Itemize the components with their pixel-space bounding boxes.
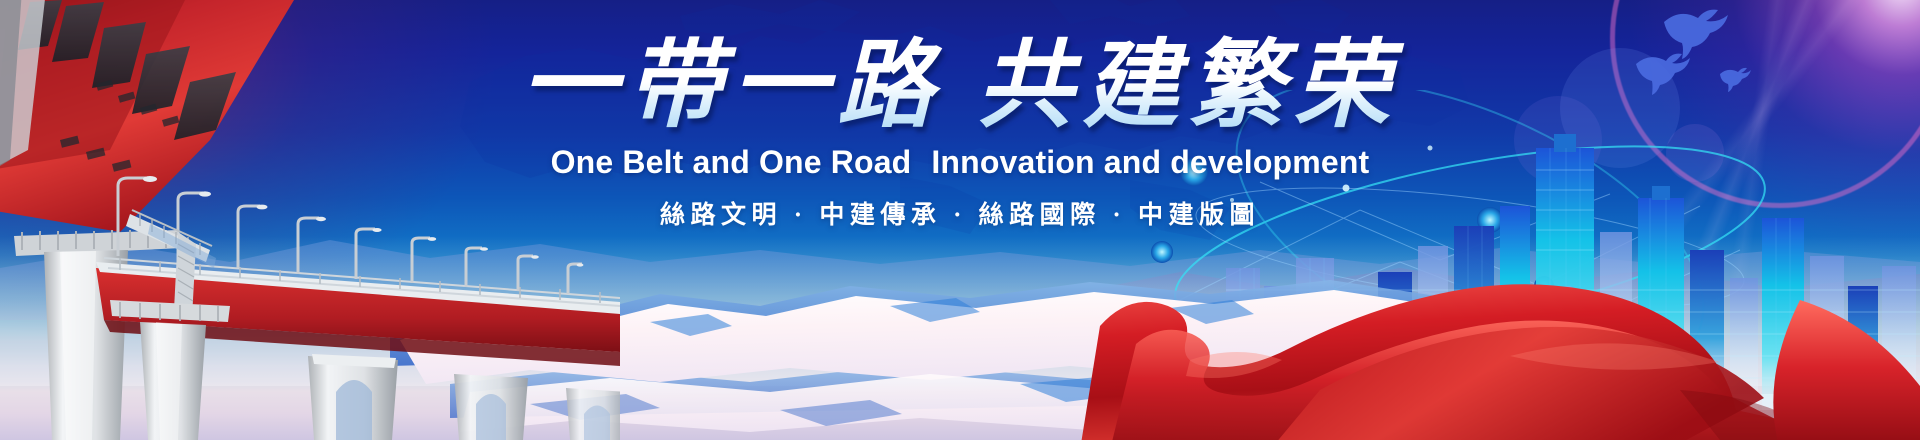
title-cn-second: 共建繁荣: [977, 32, 1399, 139]
title-cn-first: 一带一路: [521, 32, 943, 139]
world-map-3d: [330, 236, 1630, 440]
banner-subtitle-cn: 絲路文明 · 中建傳承 · 絲路國際 · 中建版圖: [0, 195, 1920, 231]
banner-title-en: One Belt and One RoadInnovation and deve…: [0, 144, 1920, 181]
horizon-glow: [0, 236, 1920, 386]
title-en-part1: One Belt and One Road: [551, 144, 912, 180]
belt-and-road-banner: 一带一路共建繁荣 One Belt and One RoadInnovation…: [0, 0, 1920, 440]
red-silk-ribbon: [1080, 240, 1920, 440]
banner-title-cn: 一带一路共建繁荣: [0, 34, 1920, 138]
title-en-part2: Innovation and development: [931, 144, 1369, 180]
banner-text-block: 一带一路共建繁荣 One Belt and One RoadInnovation…: [0, 34, 1920, 231]
